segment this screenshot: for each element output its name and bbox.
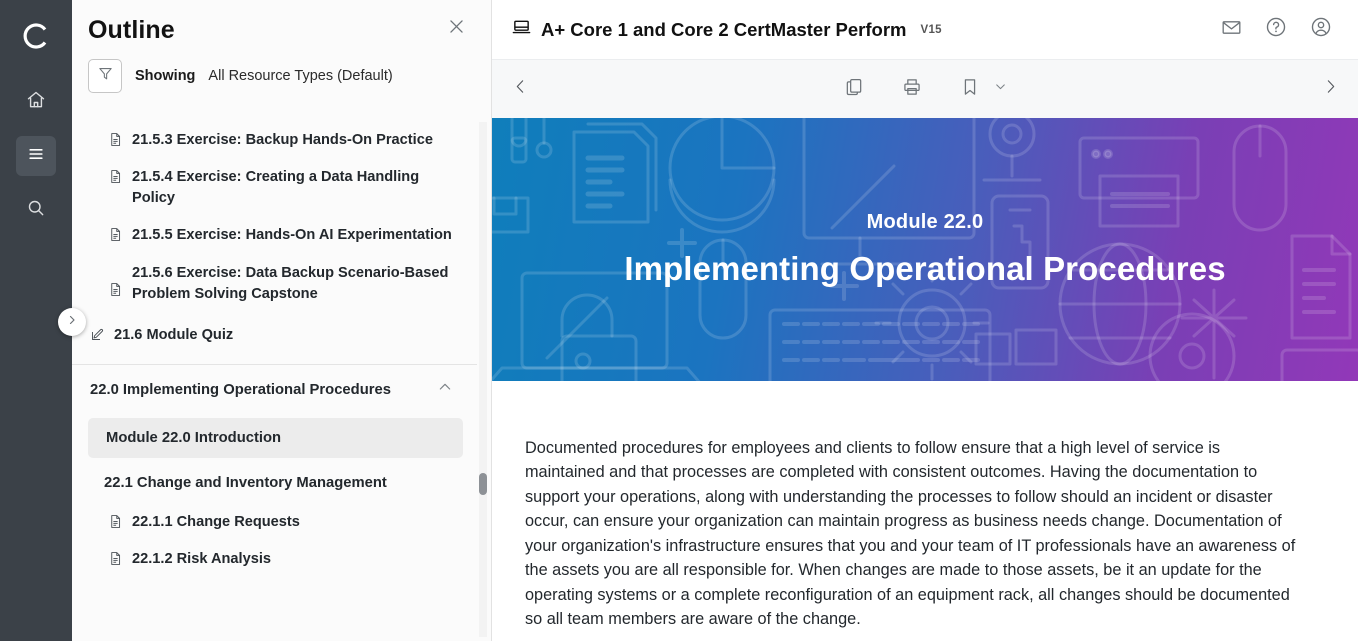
document-icon (108, 169, 124, 184)
course-header-actions (1218, 17, 1334, 43)
outline-item-label: Module 22.0 Introduction (106, 430, 281, 446)
panel-expand-handle[interactable] (58, 308, 86, 336)
document-icon (108, 514, 124, 529)
filter-funnel-icon (97, 65, 114, 87)
lesson-paragraph: Documented procedures for employees and … (525, 436, 1302, 632)
outline-menu-icon (26, 144, 46, 169)
print-button[interactable] (902, 77, 922, 102)
mail-button[interactable] (1218, 17, 1244, 43)
mail-icon (1221, 17, 1242, 43)
document-icon (108, 227, 124, 242)
outline-close-button[interactable] (443, 16, 469, 42)
outline-scrollbar-track[interactable] (479, 122, 487, 637)
print-icon (902, 77, 922, 102)
rail-item-home[interactable] (16, 82, 56, 122)
filter-showing-label: Showing (135, 68, 195, 84)
chevron-up-icon[interactable] (437, 379, 453, 400)
course-title: A+ Core 1 and Core 2 CertMaster Perform (541, 19, 907, 41)
outline-item-label: 21.5.6 Exercise: Data Backup Scenario-Ba… (132, 263, 463, 305)
outline-item-label: 21.6 Module Quiz (114, 325, 233, 346)
filter-selected-value[interactable]: All Resource Types (Default) (208, 68, 392, 84)
outline-panel: Outline Showing All Resource Types (Defa… (72, 0, 492, 641)
lesson-body: Documented procedures for employees and … (492, 381, 1358, 632)
copy-button[interactable] (844, 77, 864, 102)
comptia-c-logo-icon (14, 14, 58, 58)
outline-item-label: 21.5.3 Exercise: Backup Hands-On Practic… (132, 130, 433, 151)
outline-filter-row: Showing All Resource Types (Default) (72, 45, 491, 105)
outline-item-label: 21.5.4 Exercise: Creating a Data Handlin… (132, 167, 463, 209)
outline-group-22-0[interactable]: 22.0 Implementing Operational Procedures (72, 364, 477, 414)
content-toolbar (492, 59, 1358, 118)
module-banner: Module 22.0 Implementing Operational Pro… (492, 118, 1358, 381)
course-version: V15 (921, 24, 942, 36)
course-header-left: A+ Core 1 and Core 2 CertMaster Perform … (512, 18, 942, 42)
document-icon (108, 551, 124, 566)
help-circle-icon (1265, 16, 1287, 43)
outline-item-label: 22.1.1 Change Requests (132, 512, 300, 533)
account-button[interactable] (1308, 17, 1334, 43)
outline-item-21-5-5[interactable]: 21.5.5 Exercise: Hands-On AI Experimenta… (72, 217, 477, 254)
help-button[interactable] (1263, 17, 1289, 43)
outline-subgroup-22-1[interactable]: 22.1 Change and Inventory Management (72, 462, 477, 504)
left-nav-rail (0, 0, 72, 641)
prev-page-button[interactable] (492, 78, 548, 100)
bookmark-button[interactable] (960, 77, 980, 102)
filter-button[interactable] (88, 59, 122, 93)
outline-item-21-5-6[interactable]: 21.5.6 Exercise: Data Backup Scenario-Ba… (72, 255, 477, 313)
bookmark-dropdown-button[interactable] (994, 80, 1007, 98)
chevron-left-icon (512, 78, 529, 100)
toolbar-center-actions (492, 77, 1358, 102)
bookmark-icon (960, 77, 980, 102)
outline-item-module-22-intro[interactable]: Module 22.0 Introduction (88, 418, 463, 458)
outline-item-21-5-4[interactable]: 21.5.4 Exercise: Creating a Data Handlin… (72, 159, 477, 217)
chevron-right-icon (1322, 78, 1339, 100)
next-page-button[interactable] (1302, 78, 1358, 100)
document-icon (108, 132, 124, 147)
outline-item-22-1-2[interactable]: 22.1.2 Risk Analysis (72, 541, 477, 578)
chevron-down-icon (994, 80, 1007, 97)
close-icon (447, 17, 466, 41)
rail-item-search[interactable] (16, 190, 56, 230)
outline-header: Outline (72, 0, 491, 45)
main-content: A+ Core 1 and Core 2 CertMaster Perform … (492, 0, 1358, 641)
outline-group-label: 22.0 Implementing Operational Procedures (90, 382, 391, 398)
course-header: A+ Core 1 and Core 2 CertMaster Perform … (492, 0, 1358, 59)
quiz-pencil-icon (90, 327, 106, 342)
outline-item-21-6-quiz[interactable]: 21.6 Module Quiz (72, 313, 477, 354)
home-icon (26, 90, 46, 115)
search-icon (26, 198, 46, 223)
banner-module-title: Implementing Operational Procedures (584, 250, 1265, 288)
account-circle-icon (1310, 16, 1332, 43)
document-icon (108, 282, 124, 297)
outline-item-label: 22.1.2 Risk Analysis (132, 549, 271, 570)
outline-item-22-1-1[interactable]: 22.1.1 Change Requests (72, 504, 477, 541)
laptop-icon (512, 18, 531, 42)
app-root: Outline Showing All Resource Types (Defa… (0, 0, 1358, 641)
outline-scrollbar-thumb[interactable] (479, 473, 487, 495)
rail-item-outline[interactable] (16, 136, 56, 176)
outline-item-label: 21.5.5 Exercise: Hands-On AI Experimenta… (132, 225, 452, 246)
outline-tree: 21.5.3 Exercise: Backup Hands-On Practic… (72, 122, 491, 641)
outline-item-21-5-3[interactable]: 21.5.3 Exercise: Backup Hands-On Practic… (72, 122, 477, 159)
chevron-right-icon (66, 313, 78, 331)
banner-module-number: Module 22.0 (867, 211, 984, 234)
outline-subgroup-label: 22.1 Change and Inventory Management (104, 475, 387, 491)
copy-icon (844, 77, 864, 102)
outline-title: Outline (88, 16, 175, 45)
